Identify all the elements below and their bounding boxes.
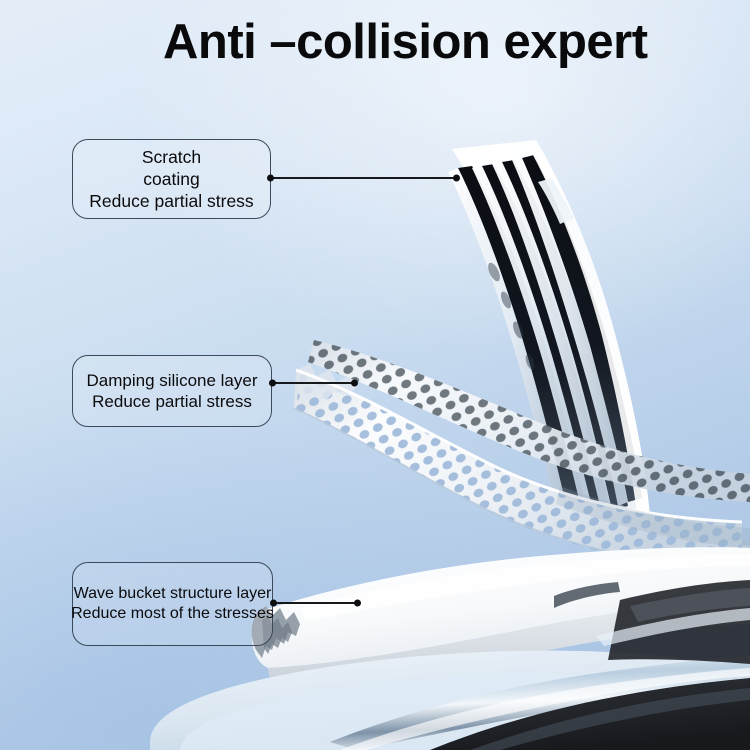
callout-line-1: Damping silicone layer [86, 370, 257, 391]
callout-line-3: Reduce partial stress [89, 190, 253, 212]
poster-canvas: Anti –collision expert Scratch coating R… [0, 0, 750, 750]
wave-bucket-structure-layer-art [252, 547, 750, 692]
leader-line-damping-silicone-layer [271, 382, 356, 384]
callout-line-2: Reduce partial stress [92, 391, 252, 412]
callout-box-damping-silicone-layer[interactable]: Damping silicone layer Reduce partial st… [72, 355, 272, 427]
damping-silicone-layer-art [280, 320, 750, 590]
callout-line-2: coating [143, 168, 199, 190]
callout-box-wave-bucket-structure-layer[interactable]: Wave bucket structure layer Reduce most … [72, 562, 273, 646]
leader-line-wave-bucket-structure-layer [272, 602, 359, 604]
callout-line-2: Reduce most of the stresses [71, 604, 274, 624]
page-title: Anti –collision expert [163, 16, 648, 69]
scratch-coating-layer-art [448, 140, 750, 575]
leader-line-scratch-coating [269, 177, 458, 179]
callout-line-1: Scratch [142, 146, 201, 168]
callout-line-1: Wave bucket structure layer [74, 584, 272, 604]
callout-box-scratch-coating[interactable]: Scratch coating Reduce partial stress [72, 139, 271, 219]
